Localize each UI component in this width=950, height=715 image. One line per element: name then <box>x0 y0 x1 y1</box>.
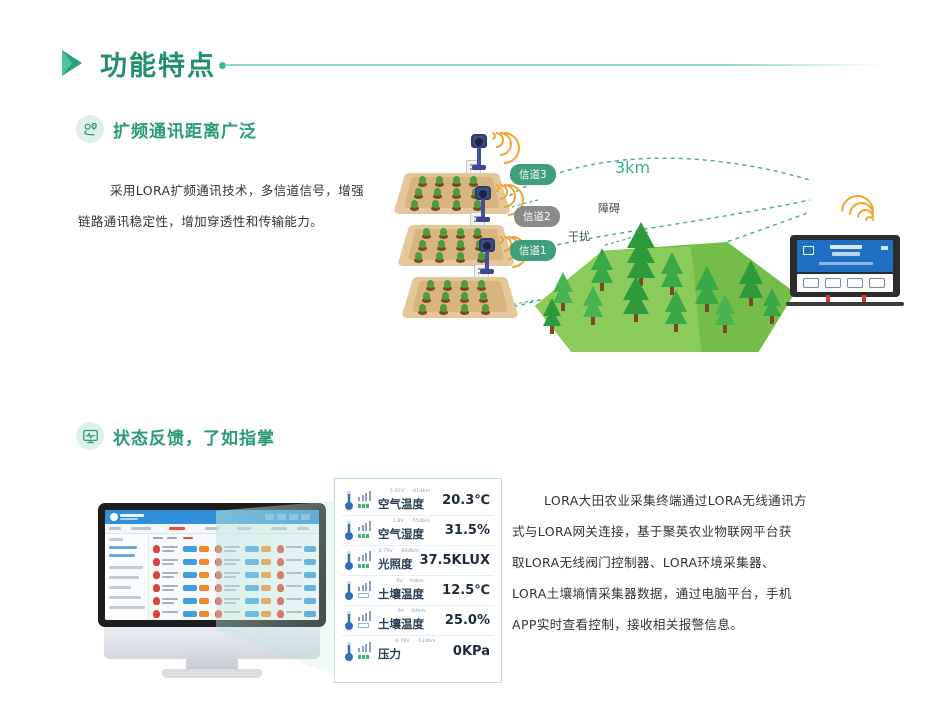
nav-item-active[interactable] <box>169 527 185 530</box>
dashboard-navbar <box>105 524 319 534</box>
paragraph: 采用LORA扩频通讯技术，多信道信号，增强 <box>78 175 378 206</box>
sensor-row: 6.78V-51dbm 压力 0KPa <box>342 636 494 666</box>
lora-coverage-diagram: 信道3 信道2 信道1 干扰 障碍 3km <box>390 140 920 390</box>
gateway-screen <box>797 240 893 272</box>
section-body-2: LORA大田农业采集终端通过LORA无线通讯方 式与LORA网关连接，基于聚英农… <box>512 485 862 640</box>
gateway-body <box>790 235 900 297</box>
obstacle-label: 障碍 <box>598 200 620 216</box>
topbar-button[interactable] <box>277 514 286 520</box>
sensor-value: 12.5℃ <box>442 583 490 598</box>
paragraph: LORA土壤墒情采集器数据，通过电脑平台，手机 <box>512 578 862 609</box>
sensor-value: 25.0% <box>445 613 490 628</box>
gateway-signal-waves-icon <box>834 188 874 228</box>
sensor-voltage: 0V <box>396 579 402 585</box>
desktop-monitor <box>98 503 338 678</box>
sensor-label: 土壤温度 <box>378 587 424 601</box>
sensor-value: 20.3℃ <box>442 493 490 508</box>
lora-gateway-device <box>790 235 900 307</box>
header-rule <box>225 64 885 66</box>
sensor-rssi: -41dbm <box>411 489 430 495</box>
section-heading-1: 扩频通讯距离广泛 <box>76 115 257 143</box>
channel-label-3: 信道3 <box>510 164 556 185</box>
paragraph: 取LORA无线阀门控制器、LORA环境采集器、 <box>512 547 862 578</box>
sensor-row: 5.02V-41dbm 空气温度 20.3℃ <box>342 486 494 516</box>
thermometer-icon <box>345 642 353 661</box>
sensor-label: 光照度 <box>378 557 413 571</box>
dashboard-topbar <box>105 510 319 524</box>
nav-item[interactable] <box>131 527 151 530</box>
sensor-value: 37.5KLUX <box>419 553 490 568</box>
monitor-screen <box>105 510 319 620</box>
dashboard-logo-icon <box>110 513 118 521</box>
paragraph: 链路通讯稳定性，增加穿透性和传输能力。 <box>78 206 378 237</box>
sensor-rssi: -51dbm <box>417 639 436 645</box>
section-heading-2: 状态反馈，了如指掌 <box>76 422 275 450</box>
sensor-label: 土壤温度 <box>378 617 424 631</box>
channel-label-2: 信道2 <box>514 206 560 227</box>
dashboard-grid <box>149 534 319 620</box>
location-route-icon <box>76 115 104 143</box>
sensor-row: 1.8V-55dbm 空气湿度 31.5% <box>342 516 494 546</box>
channel-label-1: 信道1 <box>510 240 556 261</box>
signal-bars-icon <box>358 523 373 538</box>
dashboard-sidebar <box>105 534 149 620</box>
nav-item[interactable] <box>297 527 309 530</box>
topbar-button[interactable] <box>301 514 310 520</box>
sensor-label: 压力 <box>378 647 401 661</box>
sensor-label: 空气温度 <box>378 497 424 511</box>
paragraph: APP实时查看控制，接收相关报警信息。 <box>512 609 862 640</box>
page-title: 功能特点 <box>100 44 216 83</box>
sensor-label: 空气湿度 <box>378 527 424 541</box>
play-triangle-light-icon <box>62 50 72 76</box>
sensor-rssi: 0dbm <box>410 579 424 585</box>
interference-label: 干扰 <box>568 228 590 244</box>
sensor-voltage: 3.79V <box>379 549 393 555</box>
section-body-1: 采用LORA扩频通讯技术，多信道信号，增强 链路通讯稳定性，增加穿透性和传输能力… <box>78 175 378 237</box>
signal-bars-icon <box>358 553 373 568</box>
gateway-button[interactable] <box>869 278 885 288</box>
gateway-button[interactable] <box>825 278 841 288</box>
nav-item[interactable] <box>205 527 219 530</box>
thermometer-icon <box>345 611 353 630</box>
gateway-button[interactable] <box>847 278 863 288</box>
thermometer-icon <box>345 491 353 510</box>
gateway-button[interactable] <box>803 278 819 288</box>
topbar-button[interactable] <box>289 514 298 520</box>
sensor-voltage: 1.8V <box>393 519 404 525</box>
signal-bars-icon <box>358 644 373 659</box>
sensor-row: 0V0dbm 土壤温度 25.0% <box>342 606 494 636</box>
topbar-button[interactable] <box>265 514 274 520</box>
thermometer-icon <box>345 521 353 540</box>
gateway-button-row <box>797 274 893 292</box>
sensor-row: 3.79V-69dbm 光照度 37.5KLUX <box>342 546 494 576</box>
signal-bars-icon <box>358 493 373 508</box>
signal-bars-empty-icon <box>358 613 373 628</box>
nav-item[interactable] <box>109 527 121 530</box>
sensor-value: 31.5% <box>445 523 490 538</box>
monitor-foot <box>162 669 262 678</box>
sensor-voltage: 5.02V <box>390 489 404 495</box>
sensor-value: 0KPa <box>453 644 490 659</box>
paragraph: 式与LORA网关连接，基于聚英农业物联网平台获 <box>512 516 862 547</box>
section-title-1: 扩频通讯距离广泛 <box>113 117 257 142</box>
monitor-waveform-icon <box>76 422 104 450</box>
distance-label: 3km <box>615 158 650 177</box>
paragraph: LORA大田农业采集终端通过LORA无线通讯方 <box>512 485 862 516</box>
sensor-readings-panel: 5.02V-41dbm 空气温度 20.3℃ 1.8V-55dbm 空气湿度 3… <box>334 478 502 683</box>
thermometer-icon <box>345 581 353 600</box>
sensor-rssi: -69dbm <box>400 549 419 555</box>
sensor-rssi: 0dbm <box>411 609 425 615</box>
section-title-2: 状态反馈，了如指掌 <box>113 424 275 449</box>
monitor-bezel <box>98 503 326 627</box>
thermometer-icon <box>345 551 353 570</box>
sensor-row: 0V0dbm 土壤温度 12.5℃ <box>342 576 494 606</box>
sensor-voltage: 6.78V <box>395 639 409 645</box>
gateway-stand <box>786 302 904 306</box>
sensor-voltage: 0V <box>398 609 404 615</box>
sensor-rssi: -55dbm <box>411 519 430 525</box>
signal-bars-empty-icon <box>358 583 373 598</box>
forest-hill <box>535 202 795 352</box>
signal-waves-icon <box>488 132 522 166</box>
nav-item[interactable] <box>237 527 251 530</box>
nav-item[interactable] <box>271 527 287 530</box>
page-header: 功能特点 <box>0 18 950 68</box>
